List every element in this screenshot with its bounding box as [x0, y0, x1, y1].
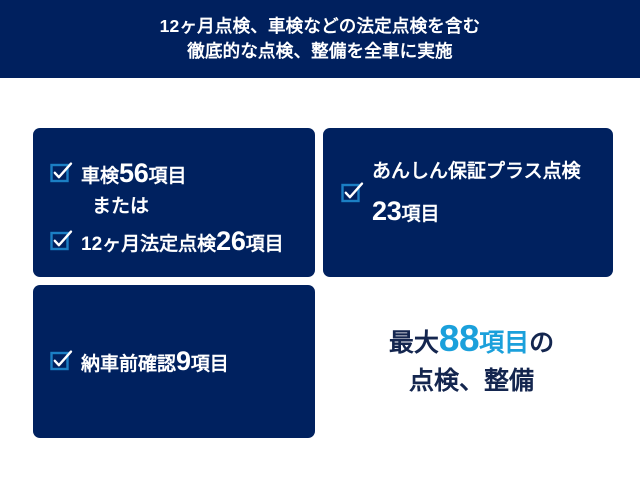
card-warranty-text: あんしん保証プラス点検 23項目: [372, 162, 581, 225]
summary-line-2: 点検、整備: [330, 365, 613, 397]
card-predelivery: 納車前確認9項目: [33, 285, 315, 438]
label-predelivery: 納車前確認: [81, 354, 176, 375]
summary-total: 最大88項目の 点検、整備: [330, 323, 613, 397]
card-inspection-row-shaken-text: 車検56項目: [81, 159, 186, 187]
card-inspection-row-shaken: 車検56項目: [51, 159, 305, 187]
label-shaken: 車検: [81, 166, 119, 187]
unit-predelivery: 項目: [191, 354, 229, 375]
value-warranty-count: 23: [372, 196, 401, 226]
card-inspection-row-legal-text: 12ヶ月法定点検26項目: [81, 227, 284, 255]
checkbox-checked-icon: [51, 164, 70, 183]
card-warranty-count-line: 23項目: [372, 198, 581, 225]
card-inspection-rows: 車検56項目 または 12ヶ月法定点検26項目: [51, 159, 305, 256]
summary-unit: 項目: [479, 329, 529, 357]
card-inspection-row-legal: 12ヶ月法定点検26項目: [51, 227, 305, 255]
checkbox-checked-icon: [342, 184, 361, 203]
card-predelivery-text: 納車前確認9項目: [81, 347, 229, 375]
unit-warranty: 項目: [401, 204, 439, 225]
value-legal-months: 12: [81, 234, 102, 255]
label-or: または: [92, 197, 149, 217]
unit-legal: 項目: [246, 234, 284, 255]
summary-line-1: 最大88項目の: [330, 323, 613, 359]
unit-shaken: 項目: [148, 166, 186, 187]
card-warranty: あんしん保証プラス点検 23項目: [323, 128, 613, 277]
summary-particle: の: [529, 329, 554, 357]
header-banner: 12ヶ月点検、車検などの法定点検を含む 徹底的な点検、整備を全車に実施: [0, 0, 640, 78]
summary-total-count: 88: [439, 318, 479, 359]
value-predelivery-count: 9: [176, 346, 191, 376]
label-warranty: あんしん保証プラス点検: [372, 162, 581, 181]
card-warranty-rows: あんしん保証プラス点検 23項目: [342, 162, 603, 225]
value-legal-count: 26: [216, 226, 245, 256]
label-legal: ヶ月法定点検: [102, 234, 216, 255]
value-shaken-count: 56: [119, 158, 148, 188]
checkbox-checked-icon: [51, 232, 70, 251]
header-title-line-1: 12ヶ月点検、車検などの法定点検を含む: [160, 14, 481, 39]
summary-prefix: 最大: [389, 329, 439, 357]
card-inspection: 車検56項目 または 12ヶ月法定点検26項目: [33, 128, 315, 277]
card-predelivery-row: 納車前確認9項目: [51, 347, 229, 375]
card-inspection-row-or: または: [51, 197, 305, 217]
card-predelivery-rows: 納車前確認9項目: [51, 285, 305, 438]
header-title-line-2: 徹底的な点検、整備を全車に実施: [187, 39, 453, 64]
checkbox-checked-icon: [51, 352, 70, 371]
